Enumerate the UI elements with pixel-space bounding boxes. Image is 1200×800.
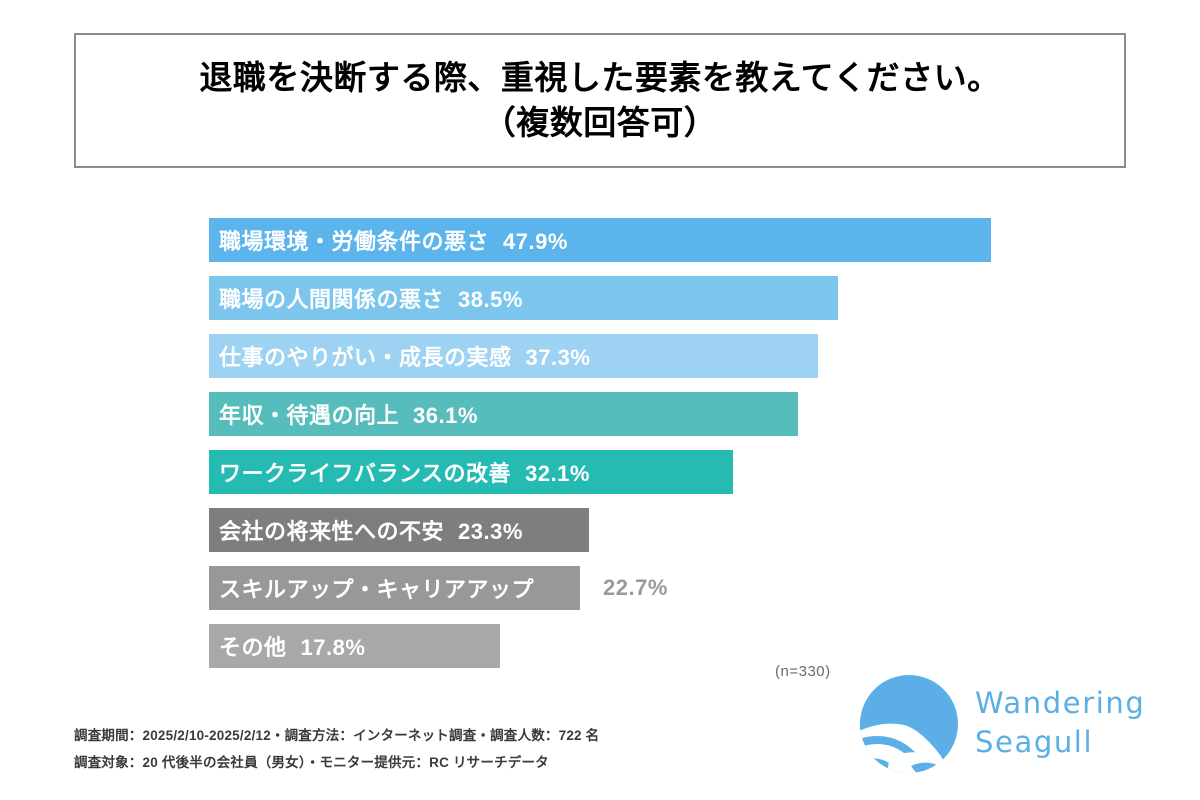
bar-row: スキルアップ・キャリアアップ22.7% <box>209 566 580 610</box>
bar-row: その他17.8% <box>209 624 500 668</box>
bar-row: 職場環境・労働条件の悪さ47.9% <box>209 218 991 262</box>
brand-name-line-1: Wandering <box>975 684 1145 723</box>
survey-note-line-1: 調査期間：2025/2/10-2025/2/12・調査方法：インターネット調査・… <box>74 722 599 749</box>
bar-value-text: 17.8% <box>301 635 366 660</box>
bar-label: 会社の将来性への不安23.3% <box>219 514 523 546</box>
sample-size-label: (n=330) <box>775 663 831 680</box>
bar-label: ワークライフバランスの改善32.1% <box>219 456 590 488</box>
seagull-wave-icon <box>855 674 963 779</box>
bar-row: 年収・待遇の向上36.1% <box>209 392 798 436</box>
bar-category-text: 職場環境・労働条件の悪さ <box>219 229 489 254</box>
bar-category-text: 職場の人間関係の悪さ <box>219 287 444 312</box>
brand-logo: Wandering Seagull <box>855 672 1130 784</box>
survey-note-line-2: 調査対象：20 代後半の会社員（男女）・モニター提供元：RC リサーチデータ <box>74 749 599 776</box>
bar-row: ワークライフバランスの改善32.1% <box>209 450 733 494</box>
chart-title-line-2: （複数回答可） <box>483 101 718 146</box>
bar-label: 職場の人間関係の悪さ38.5% <box>219 282 523 314</box>
bar-rect[interactable]: ワークライフバランスの改善32.1% <box>209 450 733 494</box>
bar-value-text: 47.9% <box>503 229 568 254</box>
bar-rect[interactable]: 会社の将来性への不安23.3% <box>209 508 589 552</box>
bar-value-text: 36.1% <box>413 403 478 428</box>
bar-category-text: ワークライフバランスの改善 <box>219 461 511 486</box>
bar-chart: 職場環境・労働条件の悪さ47.9%職場の人間関係の悪さ38.5%仕事のやりがい・… <box>0 218 1200 688</box>
bar-rect[interactable]: 職場の人間関係の悪さ38.5% <box>209 276 838 320</box>
bar-rect[interactable]: その他17.8% <box>209 624 500 668</box>
bar-rect[interactable]: 職場環境・労働条件の悪さ47.9% <box>209 218 991 262</box>
bar-label: 職場環境・労働条件の悪さ47.9% <box>219 224 568 256</box>
bar-rect[interactable]: 仕事のやりがい・成長の実感37.3% <box>209 334 818 378</box>
bar-rect[interactable]: 年収・待遇の向上36.1% <box>209 392 798 436</box>
bar-category-text: 年収・待遇の向上 <box>219 403 399 428</box>
bar-category-text: 会社の将来性への不安 <box>219 519 444 544</box>
bar-rect[interactable]: スキルアップ・キャリアアップ <box>209 566 580 610</box>
bar-row: 会社の将来性への不安23.3% <box>209 508 589 552</box>
bar-value-text: 38.5% <box>458 287 523 312</box>
survey-method-notes: 調査期間：2025/2/10-2025/2/12・調査方法：インターネット調査・… <box>74 722 599 776</box>
chart-title-line-1: 退職を決断する際、重視した要素を教えてください。 <box>199 56 1000 101</box>
bar-row: 仕事のやりがい・成長の実感37.3% <box>209 334 818 378</box>
bar-label: その他17.8% <box>219 630 365 662</box>
brand-name: Wandering Seagull <box>975 684 1145 761</box>
bar-category-text: 仕事のやりがい・成長の実感 <box>219 345 512 370</box>
bar-value-text: 32.1% <box>525 461 590 486</box>
bar-label: 仕事のやりがい・成長の実感37.3% <box>219 340 590 372</box>
brand-name-line-2: Seagull <box>975 723 1145 762</box>
bar-category-text: スキルアップ・キャリアアップ <box>219 572 534 604</box>
bar-label: 年収・待遇の向上36.1% <box>219 398 478 430</box>
bar-value-text: 23.3% <box>458 519 523 544</box>
bar-row: 職場の人間関係の悪さ38.5% <box>209 276 838 320</box>
bar-value-text: 22.7% <box>603 575 668 601</box>
chart-title-box: 退職を決断する際、重視した要素を教えてください。 （複数回答可） <box>74 33 1126 168</box>
bar-value-text: 37.3% <box>526 345 591 370</box>
bar-category-text: その他 <box>219 635 287 660</box>
